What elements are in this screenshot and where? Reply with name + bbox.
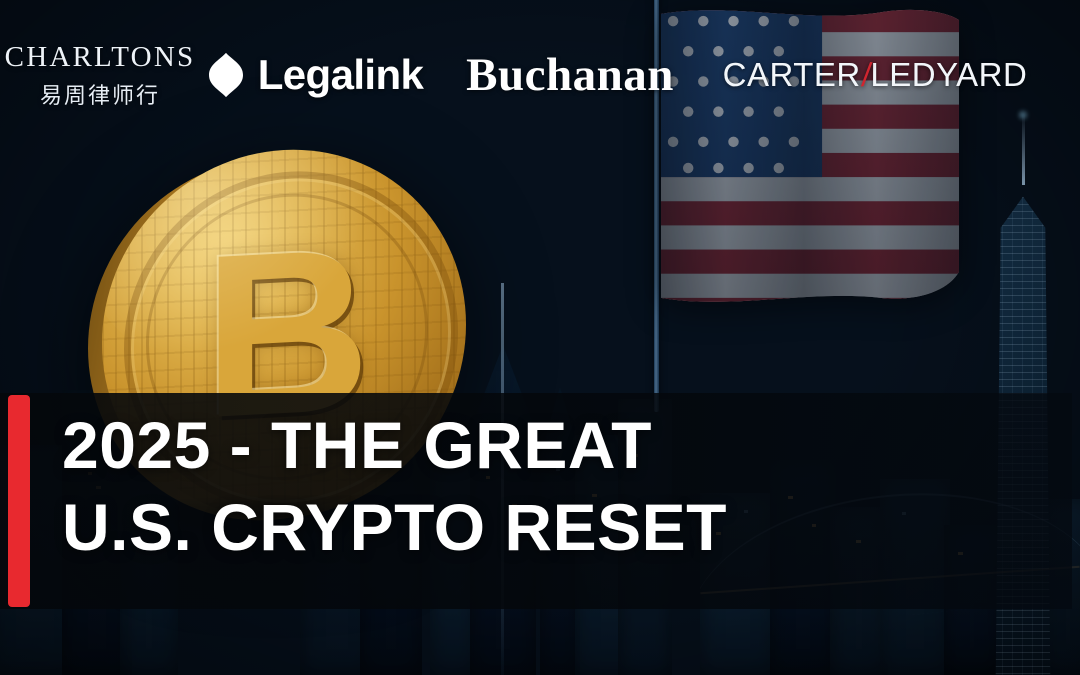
charltons-wordmark: CHARLTONS xyxy=(5,41,196,74)
carter-word-right: LEDYARD xyxy=(870,56,1027,94)
charltons-chinese-name: 易周律师行 xyxy=(40,78,160,110)
carter-ledyard-wordmark: CARTER / LEDYARD xyxy=(723,56,1028,94)
page-title: 2025 - THE GREAT U.S. CRYPTO RESET xyxy=(62,404,992,568)
logo-carter-ledyard[interactable]: CARTER / LEDYARD xyxy=(710,56,1040,94)
buchanan-wordmark: Buchanan xyxy=(466,48,674,102)
logo-buchanan[interactable]: Buchanan xyxy=(430,48,710,102)
logo-legalink[interactable]: Legalink xyxy=(200,51,430,99)
legalink-wordmark: Legalink xyxy=(258,51,424,99)
legalink-diamond-icon xyxy=(207,52,245,98)
video-thumbnail: B CHARLTONS 易周律师行 Legalink Buchanan CART… xyxy=(0,0,1080,675)
carter-word-left: CARTER xyxy=(723,56,861,94)
red-accent-bar xyxy=(8,395,30,607)
sponsor-logo-row: CHARLTONS 易周律师行 Legalink Buchanan CARTER… xyxy=(0,0,1080,150)
logo-charltons[interactable]: CHARLTONS 易周律师行 xyxy=(0,41,200,110)
